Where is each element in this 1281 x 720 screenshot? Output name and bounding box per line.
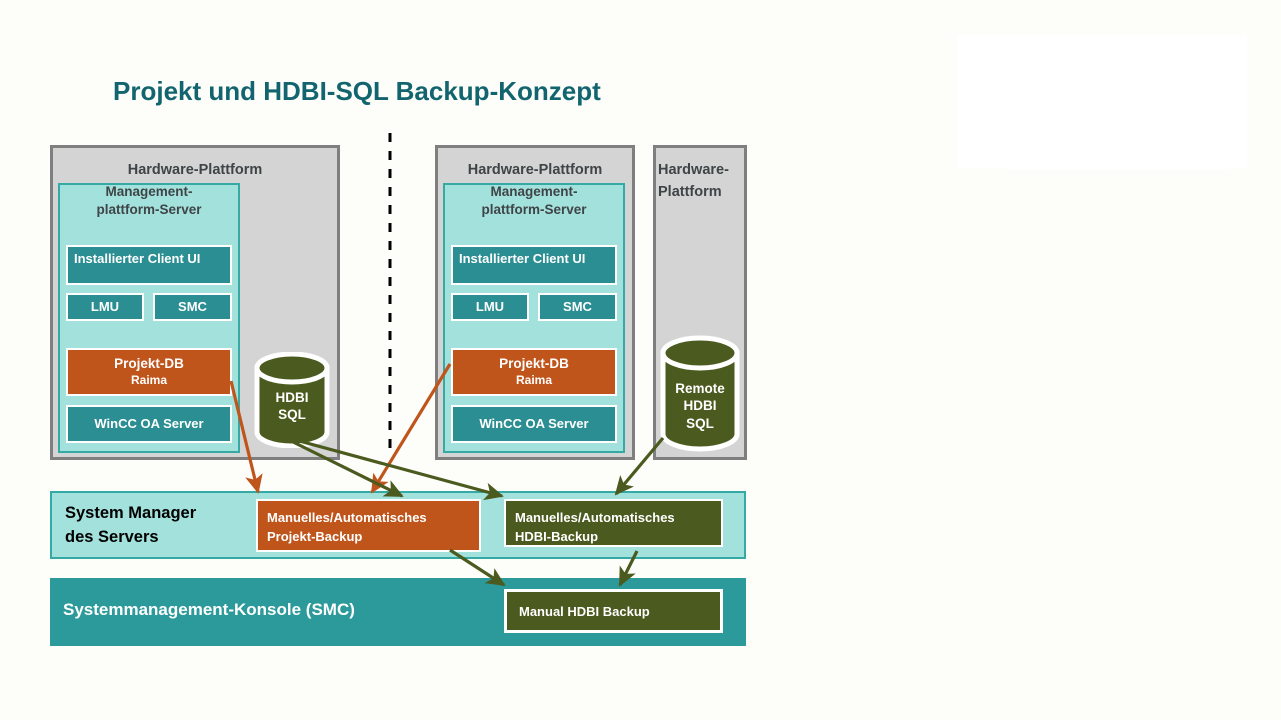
projekt-db-left: Projekt-DB Raima (66, 348, 232, 396)
projekt-backup-line2: Projekt-Backup (267, 528, 479, 547)
hardware-platform-left-title: Hardware-Plattform (50, 159, 340, 181)
hardware-platform-right-line2: Plattform (658, 181, 747, 203)
projekt-db-middle-name: Projekt-DB (499, 355, 569, 373)
smc-box-middle: SMC (538, 293, 617, 321)
hdbi-sql-left-line2: SQL (254, 406, 330, 423)
manual-hdbi-backup-box: Manual HDBI Backup (504, 589, 723, 633)
projekt-backup-box: Manuelles/Automatisches Projekt-Backup (256, 499, 481, 552)
wincc-oa-server-left: WinCC OA Server (66, 405, 232, 443)
management-platform-server-left-title: Management- plattform-Server (58, 183, 240, 219)
remote-hdbi-sql-label: Remote HDBI SQL (660, 380, 740, 432)
remote-hdbi-sql-line2: HDBI (660, 397, 740, 414)
hardware-platform-right-title: Hardware- Plattform (653, 159, 747, 204)
projekt-db-middle: Projekt-DB Raima (451, 348, 617, 396)
mgmt-title-middle-line2: plattform-Server (443, 201, 625, 219)
system-manager-label: System Manager des Servers (65, 502, 196, 550)
slide-canvas: Projekt und HDBI-SQL Backup-Konzept Hard… (0, 0, 1281, 720)
projekt-db-left-engine: Raima (131, 373, 167, 389)
system-manager-label-line1: System Manager (65, 502, 196, 526)
remote-hdbi-sql-line3: SQL (660, 415, 740, 432)
remote-hdbi-sql-line1: Remote (660, 380, 740, 397)
smc-console-label: Systemmanagement-Konsole (SMC) (63, 600, 355, 620)
system-manager-label-line2: des Servers (65, 526, 196, 550)
projekt-db-left-name: Projekt-DB (114, 355, 184, 373)
mgmt-title-line2: plattform-Server (58, 201, 240, 219)
hdbi-sql-left-line1: HDBI (254, 389, 330, 406)
mgmt-title-middle-line1: Management- (443, 183, 625, 201)
management-platform-server-middle-title: Management- plattform-Server (443, 183, 625, 219)
smc-box-left: SMC (153, 293, 232, 321)
hdbi-backup-line2: HDBI-Backup (515, 528, 721, 547)
projekt-db-middle-engine: Raima (516, 373, 552, 389)
hardware-platform-middle-title: Hardware-Plattform (435, 159, 635, 181)
lmu-box-middle: LMU (451, 293, 529, 321)
hdbi-sql-left-label: HDBI SQL (254, 389, 330, 424)
installierter-client-ui-left: Installierter Client UI (66, 245, 232, 285)
mgmt-title-line1: Management- (58, 183, 240, 201)
projekt-backup-line1: Manuelles/Automatisches (267, 509, 479, 528)
hdbi-backup-box: Manuelles/Automatisches HDBI-Backup (504, 499, 723, 547)
hdbi-sql-database-left: HDBI SQL (254, 352, 330, 448)
hardware-platform-right-line1: Hardware- (658, 159, 747, 181)
decorative-white-panel-inner (1003, 44, 1230, 169)
lmu-box-left: LMU (66, 293, 144, 321)
installierter-client-ui-middle: Installierter Client UI (451, 245, 617, 285)
page-title: Projekt und HDBI-SQL Backup-Konzept (113, 76, 601, 107)
wincc-oa-server-middle: WinCC OA Server (451, 405, 617, 443)
remote-hdbi-sql-database: Remote HDBI SQL (660, 335, 740, 453)
hdbi-backup-line1: Manuelles/Automatisches (515, 509, 721, 528)
